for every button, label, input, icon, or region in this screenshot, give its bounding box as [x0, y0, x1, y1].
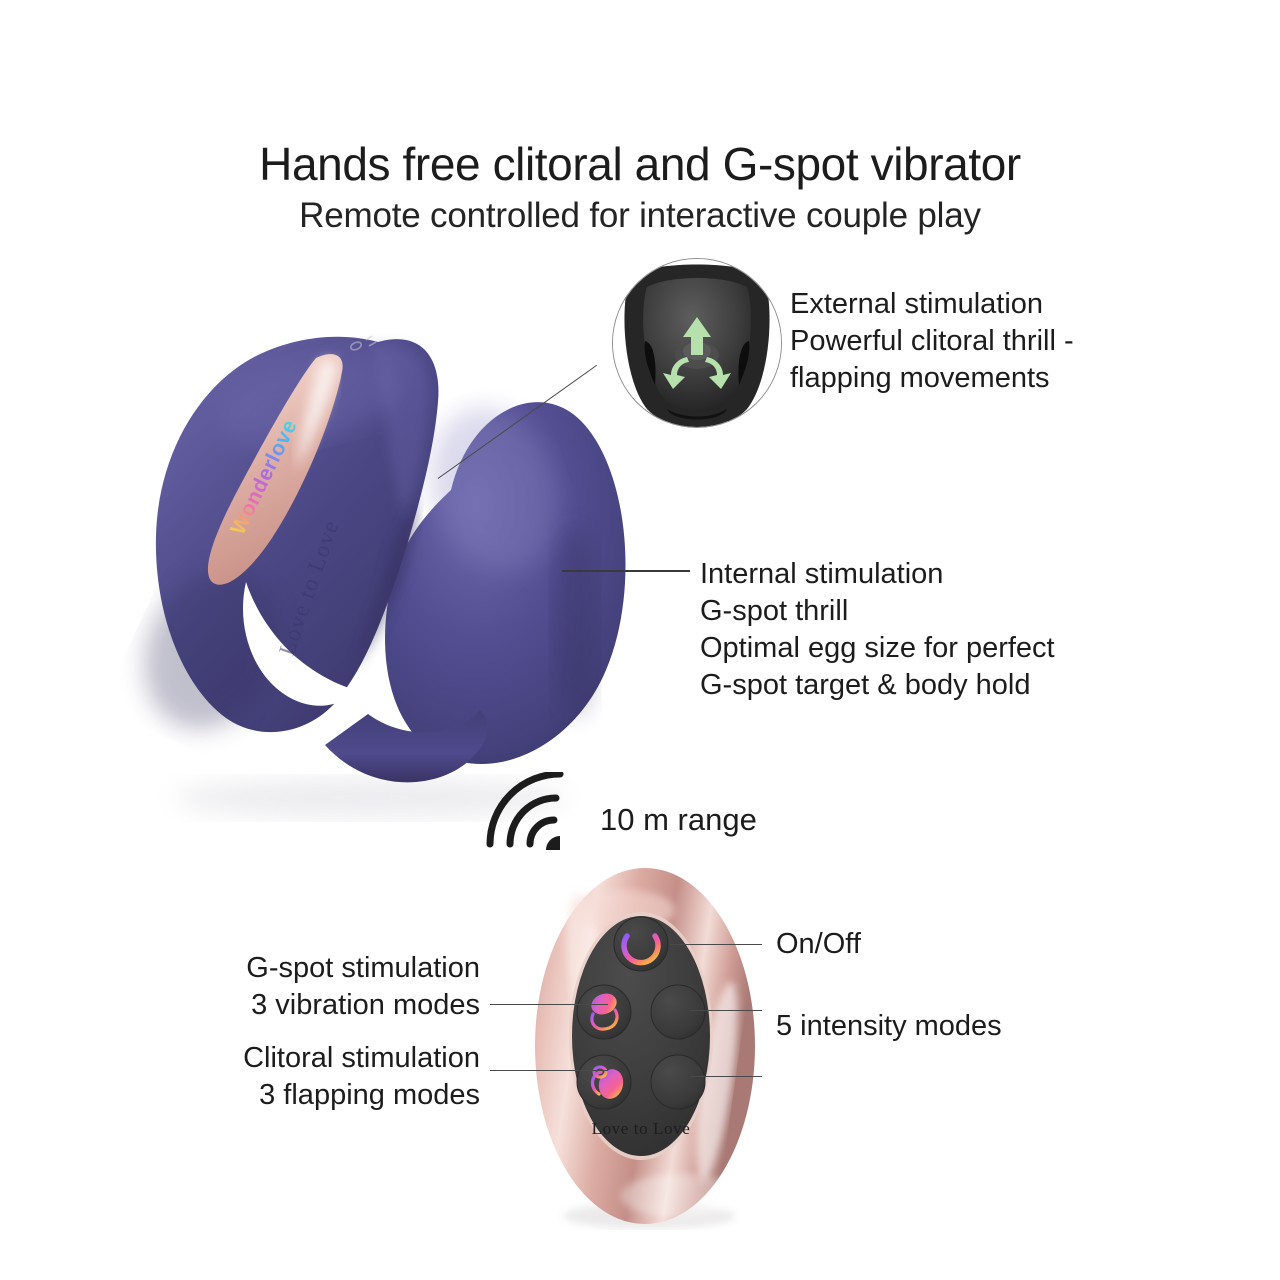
clitoral-mode-button[interactable] [577, 1055, 631, 1109]
leader-gspot [490, 1004, 608, 1005]
page-subtitle: Remote controlled for interactive couple… [0, 196, 1280, 236]
page-title: Hands free clitoral and G-spot vibrator [0, 140, 1280, 188]
intensity-down-button[interactable] [651, 1055, 705, 1109]
clitoral-stimulation-label: Clitoral stimulation 3 flapping modes [120, 1040, 480, 1114]
remote-control: Love to Love [531, 866, 759, 1230]
remote-brand-label: Love to Love [592, 1119, 691, 1138]
signal-waves-icon [482, 772, 592, 852]
leader-intensity-up [690, 1010, 762, 1011]
internal-stimulation-label: Internal stimulation G-spot thrill Optim… [700, 556, 1130, 704]
power-button[interactable] [614, 917, 668, 971]
gspot-stimulation-label: G-spot stimulation 3 vibration modes [120, 950, 480, 1024]
leader-clitoral [490, 1070, 608, 1071]
clitoral-arm [120, 337, 438, 752]
intensity-up-button[interactable] [651, 985, 705, 1039]
product-infographic: Hands free clitoral and G-spot vibrator … [0, 0, 1280, 1280]
product-device-illustration: Wonderlove Love to Love [120, 290, 700, 830]
leader-power [670, 944, 762, 945]
intensity-label: 5 intensity modes [776, 1010, 1002, 1043]
power-label: On/Off [776, 928, 861, 961]
leader-internal-stimulation [562, 570, 690, 572]
external-stimulation-label: External stimulation Powerful clitoral t… [790, 286, 1160, 397]
title-block: Hands free clitoral and G-spot vibrator … [0, 140, 1280, 237]
external-stimulation-inset [612, 258, 782, 428]
leader-intensity-down [690, 1076, 762, 1077]
range-label: 10 m range [600, 802, 757, 838]
gspot-mode-button[interactable] [577, 985, 631, 1039]
